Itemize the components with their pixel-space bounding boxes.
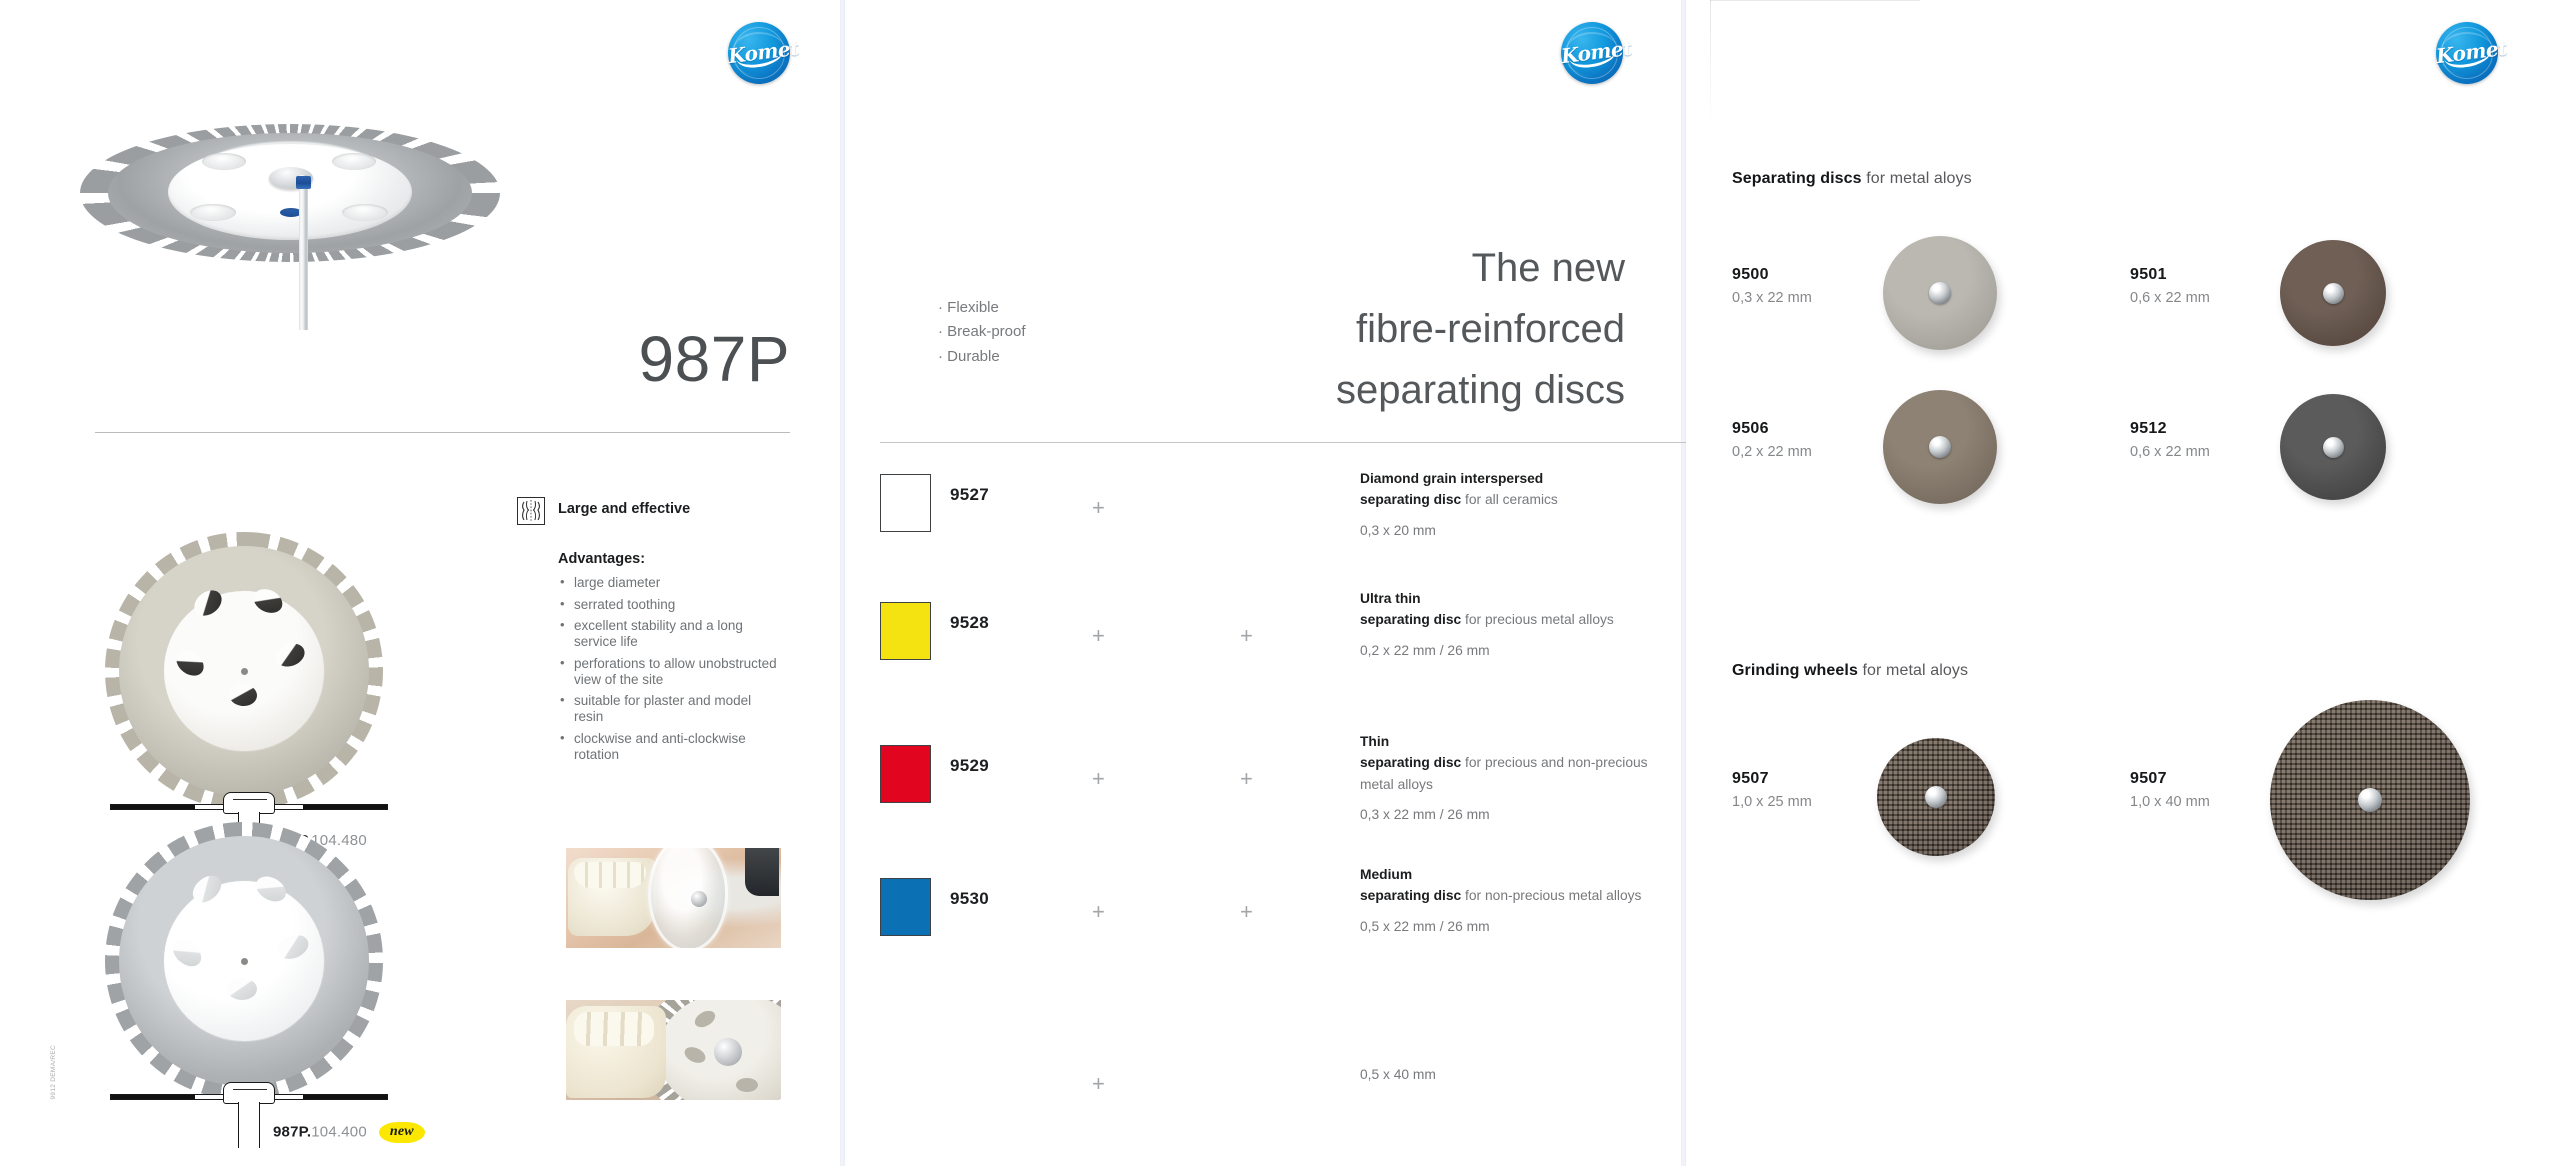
disc-hub xyxy=(714,1038,742,1066)
disc-center-dot xyxy=(241,958,248,965)
heading-bold: Separating discs xyxy=(1732,170,1862,187)
profile-coating-right xyxy=(303,1095,387,1099)
product-sku: 9501 xyxy=(2130,266,2210,284)
disc-hub xyxy=(691,891,707,907)
list-item: · Flexible xyxy=(938,296,1026,320)
disc-perforation xyxy=(190,204,236,221)
disc-hub xyxy=(1925,786,1947,808)
headline-line-2: fibre-reinforced xyxy=(1336,299,1625,360)
product-sku: 9500 xyxy=(1732,266,1812,284)
disc-image-9501 xyxy=(2280,240,2386,346)
product-sku: 9507 xyxy=(1732,770,1812,788)
heading-bold: Grinding wheels xyxy=(1732,662,1858,679)
product-dimensions: 0,2 x 22 mm xyxy=(1732,444,1812,460)
profile-hub xyxy=(223,1082,275,1104)
list-item: serrated toothing xyxy=(558,597,778,613)
product-code-prefix: 987P. xyxy=(273,1123,311,1140)
new-badge: new xyxy=(379,1122,425,1143)
dental-model xyxy=(566,1006,666,1098)
hero-shaft-blue-band xyxy=(296,176,311,189)
section-headline: The new fibre-reinforced separating disc… xyxy=(1336,238,1625,420)
right-page: Komet Separating discs for metal aloys 9… xyxy=(1686,0,2560,1166)
disc-hub xyxy=(2323,437,2344,458)
product-item-9500: 9500 0,3 x 22 mm xyxy=(1732,266,1812,306)
page-title: 987P xyxy=(639,322,790,396)
product-dimensions: 1,0 x 40 mm xyxy=(2130,794,2210,810)
disc-image-9500 xyxy=(1883,236,1997,350)
list-item: excellent stability and a long service l… xyxy=(558,618,778,650)
komet-logo: Komet xyxy=(2436,22,2498,84)
product-item-9507-40: 9507 1,0 x 40 mm xyxy=(2130,770,2210,810)
product-disc-987P-104-400 xyxy=(105,822,383,1100)
headline-line-1: The new xyxy=(1336,238,1625,299)
product-code-number: 104.400 xyxy=(311,1123,367,1140)
disc-perforation xyxy=(332,153,376,170)
list-item: · Durable xyxy=(938,345,1026,369)
handpiece xyxy=(745,848,779,896)
list-item: suitable for plaster and model resin xyxy=(558,693,778,725)
left-page: Komet 987P xyxy=(0,0,840,1166)
product-disc-987P-104-480 xyxy=(105,532,383,810)
application-photo-2 xyxy=(566,1000,781,1100)
product-item-9507-25: 9507 1,0 x 25 mm xyxy=(1732,770,1812,810)
list-item: large diameter xyxy=(558,575,778,591)
product-dimensions: 0,6 x 22 mm xyxy=(2130,290,2210,306)
product-sku: 9506 xyxy=(1732,420,1812,438)
disc-perforation xyxy=(736,1078,758,1092)
profile-shaft xyxy=(238,1102,260,1148)
profile-coating-left xyxy=(111,1095,195,1099)
dental-model xyxy=(568,858,656,936)
disc-image-9507-25 xyxy=(1877,738,1995,856)
advantages-title: Advantages: xyxy=(558,551,645,567)
disc-image-9506 xyxy=(1883,390,1997,504)
profile-coating-right xyxy=(303,805,387,809)
heading-rest: for metal aloys xyxy=(1858,662,1968,679)
disc-hub xyxy=(2323,283,2344,304)
advantages-list: large diameter serrated toothing excelle… xyxy=(558,575,778,769)
disc-profile-diagram xyxy=(110,792,388,822)
disc-hub xyxy=(1929,436,1951,458)
tooth-icon xyxy=(517,497,545,525)
headline-line-3: separating discs xyxy=(1336,360,1625,421)
product-dimensions: 0,3 x 22 mm xyxy=(1732,290,1812,306)
section-heading-grinding-wheels: Grinding wheels for metal aloys xyxy=(1732,662,1968,680)
disc-hub xyxy=(2358,788,2382,812)
product-item-9501: 9501 0,6 x 22 mm xyxy=(2130,266,2210,306)
hero-shaft xyxy=(299,175,308,330)
list-item: clockwise and anti-clockwise rotation xyxy=(558,731,778,763)
hero-disc-image xyxy=(80,96,500,306)
profile-coating-left xyxy=(111,805,195,809)
komet-logo: Komet xyxy=(728,22,790,84)
print-reference-code: 9912 DEMA/REC xyxy=(50,1045,57,1099)
heading-rest: for metal aloys xyxy=(1862,170,1972,187)
product-sku: 9512 xyxy=(2130,420,2210,438)
product-item-9506: 9506 0,2 x 22 mm xyxy=(1732,420,1812,460)
product-sku: 9507 xyxy=(2130,770,2210,788)
product-dimensions: 0,6 x 22 mm xyxy=(2130,444,2210,460)
disc-image-9507-40 xyxy=(2270,700,2470,900)
list-item: · Break-proof xyxy=(938,320,1026,344)
disc-in-use xyxy=(648,848,728,948)
middle-page: Komet The new fibre-reinforced separatin… xyxy=(845,0,1681,1166)
brochure-page: Komet 987P xyxy=(0,0,2560,1166)
product-dimensions: 1,0 x 25 mm xyxy=(1732,794,1812,810)
title-divider xyxy=(95,432,790,433)
page-fold-line xyxy=(1710,0,1711,126)
product-code: 987P.104.400new xyxy=(273,1122,425,1143)
section-heading-separating-discs: Separating discs for metal aloys xyxy=(1732,170,1972,188)
disc-perforation xyxy=(227,978,257,1000)
disc-perforation xyxy=(202,153,246,170)
disc-center-dot xyxy=(241,668,248,675)
application-photo-1 xyxy=(566,848,781,948)
feature-title: Large and effective xyxy=(558,501,690,517)
komet-logo: Komet xyxy=(1561,22,1623,84)
page-fold-top xyxy=(1710,0,1920,1)
disc-hub xyxy=(1929,282,1951,304)
profile-hub xyxy=(223,792,275,814)
list-item: perforations to allow unobstructed view … xyxy=(558,656,778,688)
disc-perforation xyxy=(342,204,388,221)
disc-profile-diagram xyxy=(110,1082,388,1112)
disc-image-9512 xyxy=(2280,394,2386,500)
feature-bullets: · Flexible · Break-proof · Durable xyxy=(938,296,1026,369)
product-item-9512: 9512 0,6 x 22 mm xyxy=(2130,420,2210,460)
